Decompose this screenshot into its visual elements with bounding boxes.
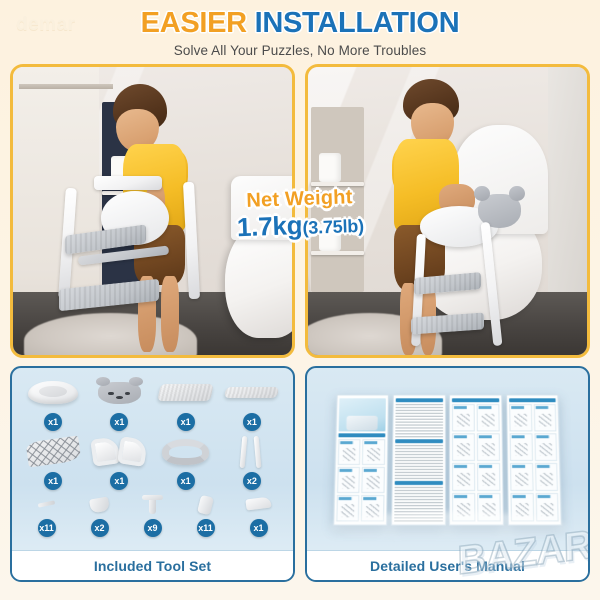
- tool-set-body: x1 x1 x1: [12, 368, 293, 550]
- qty-badge: x1: [44, 472, 62, 490]
- page-subtitle: Solve All Your Puzzles, No More Troubles: [0, 43, 600, 58]
- part-item: x1: [232, 492, 285, 537]
- manual-step-cell: [452, 404, 475, 431]
- step-stool-folded: [52, 176, 214, 326]
- manual-step-cell: [337, 467, 360, 493]
- photo-card-right: [305, 64, 590, 358]
- qty-badge: x11: [197, 519, 215, 537]
- manual-step-cell: [362, 467, 385, 493]
- toilet-paper-roll-2: [319, 223, 341, 252]
- manual-step-cell: [477, 433, 500, 461]
- part-item: x1: [219, 374, 285, 431]
- stool-tread-lower: [59, 279, 159, 312]
- potty-seat-frame-icon: [20, 374, 86, 412]
- part-item: x1: [86, 374, 152, 431]
- manual-step-cell: [452, 433, 475, 461]
- parts-row: x1 x1 x1: [20, 374, 285, 431]
- header: demar EASIER INSTALLATION Solve All Your…: [0, 0, 600, 64]
- bear-ear-left: [474, 186, 490, 201]
- manual-booklet: [333, 394, 562, 525]
- bathroom-scene-left: [13, 67, 292, 355]
- part-item: x2: [73, 492, 126, 537]
- manual-step-cell: [477, 404, 500, 431]
- manual-page-steps-1: [449, 394, 504, 525]
- parts-row: x1 x1 x1 x2: [20, 433, 285, 490]
- part-item: x2: [219, 433, 285, 490]
- manual-section-band: [395, 439, 443, 443]
- stool-handle: [94, 176, 162, 189]
- manual-step-cell: [535, 463, 558, 491]
- qty-badge: x2: [243, 472, 261, 490]
- bear-ear-right: [509, 186, 525, 201]
- part-item: x11: [20, 492, 73, 537]
- part-item: x1: [20, 433, 86, 490]
- manual-step-cell: [509, 404, 532, 431]
- photo-card-left: [10, 64, 295, 358]
- manual-section-band: [338, 433, 385, 437]
- manual-step-cell: [534, 433, 557, 461]
- manual-page-cover: [333, 394, 389, 525]
- parts-row: x11 x2 x9 x11: [20, 492, 285, 548]
- qty-badge: x9: [144, 519, 162, 537]
- manual-step-cell: [510, 463, 533, 491]
- qty-badge: x1: [110, 413, 128, 431]
- qty-badge: x1: [243, 413, 261, 431]
- manual-step-cell: [362, 439, 385, 465]
- manual-section-band: [396, 398, 443, 402]
- part-item: x1: [153, 374, 219, 431]
- qty-badge: x11: [38, 519, 56, 537]
- manual-page-text: [391, 394, 446, 525]
- manual-step-cell: [452, 463, 475, 491]
- manual-reflection: [330, 512, 565, 542]
- niche-shelf-upper: [311, 182, 364, 186]
- part-item: x1: [20, 374, 86, 431]
- bottom-row: x1 x1 x1: [0, 358, 600, 590]
- manual-label: Detailed User's Manual: [307, 550, 588, 580]
- bathroom-scene-right: [308, 67, 587, 355]
- part-item: x9: [126, 492, 179, 537]
- manual-page-steps-2: [506, 394, 562, 525]
- qty-badge: x1: [44, 413, 62, 431]
- manual-section-band: [395, 481, 443, 485]
- parts-grid: x1 x1 x1: [20, 374, 285, 548]
- manual-card: Detailed User's Manual BAZAR: [305, 366, 590, 582]
- toilet-tank: [231, 176, 295, 239]
- manual-section-band: [509, 398, 556, 402]
- manual-body: [307, 368, 588, 550]
- qty-badge: x1: [250, 519, 268, 537]
- page-title-part1: EASIER: [141, 7, 247, 39]
- manual-section-band: [452, 398, 499, 402]
- bear-backrest-icon: [86, 374, 152, 412]
- side-frame-pair-icon: [86, 433, 152, 471]
- pin-small-icon: [20, 492, 73, 518]
- part-item: x11: [179, 492, 232, 537]
- qty-badge: x1: [177, 472, 195, 490]
- brand-logo: demar: [16, 14, 76, 36]
- manual-illustration: [307, 368, 588, 550]
- manual-step-cell: [510, 433, 533, 461]
- manual-steps-grid: [452, 404, 501, 521]
- mesh-panel-icon: [20, 433, 86, 471]
- clip-bracket-icon: [73, 492, 126, 518]
- bolt-icon: [126, 492, 179, 518]
- seat-ring-icon: [153, 433, 219, 471]
- ladder-step-lower: [411, 312, 484, 334]
- manual-text-block: [395, 404, 443, 437]
- toilet-paper-roll-1: [319, 153, 341, 182]
- step-stool-assembled: [414, 194, 559, 350]
- ladder-step-upper: [414, 272, 481, 295]
- part-item: x1: [86, 433, 152, 490]
- qty-badge: x1: [177, 413, 195, 431]
- wall-niche: [311, 107, 364, 291]
- qty-badge: x2: [91, 519, 109, 537]
- manual-text-block: [395, 445, 443, 479]
- manual-steps-grid: [509, 404, 559, 521]
- step-tread-lower-icon: [219, 374, 285, 412]
- manual-step-cell: [338, 439, 361, 465]
- support-rods-icon: [219, 433, 285, 471]
- step-tread-upper-icon: [153, 374, 219, 412]
- manual-step-cell: [534, 404, 557, 431]
- manual-cover-image: [338, 398, 385, 431]
- manual-step-cell: [477, 463, 500, 491]
- photo-row: Net Weight 1.7kg(3.75lb): [0, 64, 600, 358]
- product-infographic: demar EASIER INSTALLATION Solve All Your…: [0, 0, 600, 600]
- page-title-part2: INSTALLATION: [255, 7, 460, 39]
- tool-set-label: Included Tool Set: [12, 550, 293, 580]
- sleeve-spacer-icon: [179, 492, 232, 518]
- tool-set-card: x1 x1 x1: [10, 366, 295, 582]
- stool-frame-right: [183, 182, 200, 299]
- manual-cover-steps: [336, 439, 385, 521]
- wrench-tool-icon: [232, 492, 285, 518]
- page-title: EASIER INSTALLATION: [0, 6, 600, 40]
- qty-badge: x1: [110, 472, 128, 490]
- part-item: x1: [153, 433, 219, 490]
- niche-shelf-lower: [311, 251, 364, 255]
